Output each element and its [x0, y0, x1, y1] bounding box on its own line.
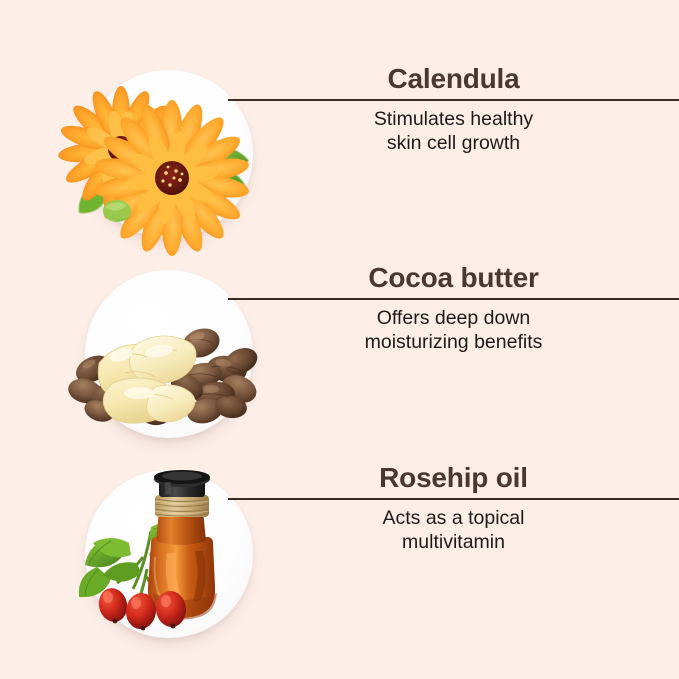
ingredient-benefit: Offers deep down moisturizing benefits: [228, 307, 679, 355]
ingredient-block-calendula: Calendula Stimulates healthy skin cell g…: [0, 0, 679, 233]
calendula-text: Calendula Stimulates healthy skin cell g…: [228, 0, 679, 233]
rosehip-oil-text: Rosehip oil Acts as a topical multivitam…: [228, 400, 679, 679]
ingredient-title: Cocoa butter: [228, 264, 679, 292]
rosehip-oil-photo: [55, 435, 255, 635]
ingredient-title: Calendula: [228, 65, 679, 93]
ingredient-title: Rosehip oil: [228, 464, 679, 492]
title-rule: [228, 498, 679, 500]
ingredients-infographic: Calendula Stimulates healthy skin cell g…: [0, 0, 679, 679]
ingredient-benefit: Acts as a topical multivitamin: [228, 507, 679, 555]
rosehip-oil-media: [55, 435, 255, 635]
ingredient-block-rosehip-oil: Rosehip oil Acts as a topical multivitam…: [0, 400, 679, 679]
ingredient-block-cocoa-butter: Cocoa butter Offers deep down moisturizi…: [0, 200, 679, 433]
cocoa-butter-text: Cocoa butter Offers deep down moisturizi…: [228, 200, 679, 433]
title-rule: [228, 99, 679, 101]
title-rule: [228, 298, 679, 300]
ingredient-benefit: Stimulates healthy skin cell growth: [228, 108, 679, 156]
